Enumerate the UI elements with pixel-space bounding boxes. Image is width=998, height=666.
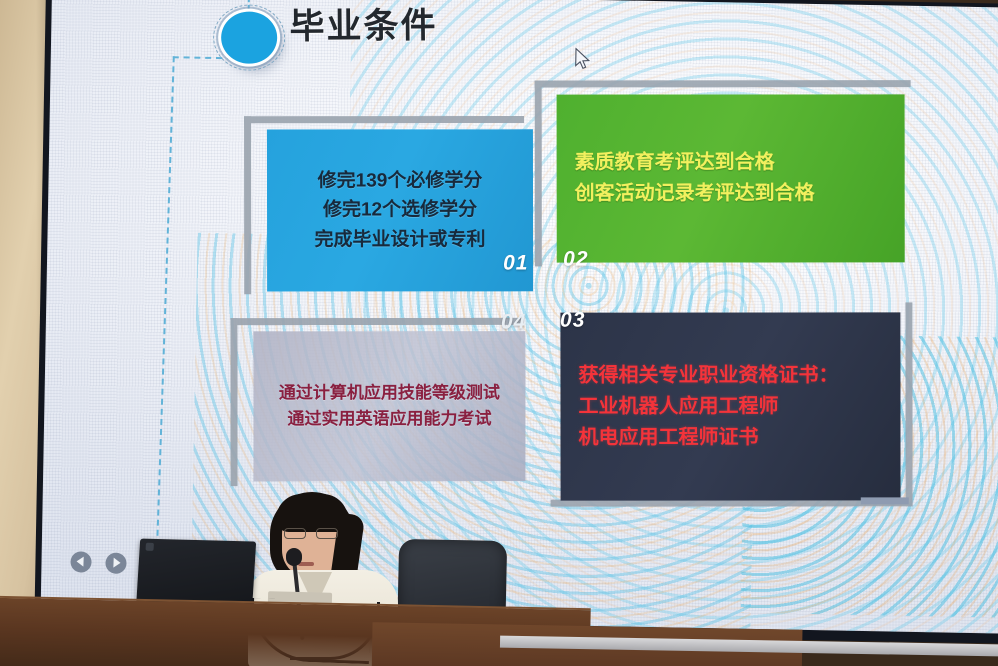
card-number-01: 01: [503, 252, 528, 276]
card-03-line-3: 机电应用工程师证书: [578, 422, 882, 453]
decorative-blue-circle: [221, 11, 278, 64]
card-03-line-1: 获得相关专业职业资格证书：: [578, 360, 882, 391]
card-03-line-2: 工业机器人应用工程师: [578, 391, 882, 422]
previous-slide-button[interactable]: [69, 550, 92, 573]
graduation-condition-card-02: 素质教育考评达到合格 创客活动记录考评达到合格: [557, 94, 905, 262]
card-01-line-3: 完成毕业设计或专利: [285, 225, 515, 255]
graduation-condition-card-03: 获得相关专业职业资格证书： 工业机器人应用工程师 机电应用工程师证书: [560, 312, 900, 500]
card-01-line-1: 修完139个必修学分: [285, 166, 515, 196]
projection-screen: 毕业条件 修完139个必修学分 修完12个选修学分 完成毕业设计或专利 素质教育…: [41, 0, 998, 634]
card-02-line-2: 创客活动记录考评达到合格: [575, 178, 887, 209]
card-number-03: 03: [560, 309, 585, 333]
presentation-slide: 毕业条件 修完139个必修学分 修完12个选修学分 完成毕业设计或专利 素质教育…: [41, 0, 998, 634]
next-slide-button[interactable]: [104, 551, 127, 574]
graduation-condition-card-04: 通过计算机应用技能等级测试 通过实用英语应用能力考试: [253, 331, 525, 481]
prev-icon: [70, 551, 92, 573]
slide-title: 毕业条件: [289, 0, 437, 49]
microphone-head: [286, 548, 302, 566]
card-number-04: 04: [501, 311, 526, 335]
card-number-02: 02: [563, 248, 588, 272]
decorative-dashed-line-vertical: [155, 56, 174, 566]
glasses: [284, 528, 338, 540]
card-01-line-2: 修完12个选修学分: [285, 196, 515, 226]
decorative-bar-right: [861, 497, 909, 504]
projection-room-scene: 毕业条件 修完139个必修学分 修完12个选修学分 完成毕业设计或专利 素质教育…: [0, 0, 998, 666]
card-04-line-2: 通过实用英语应用能力考试: [271, 406, 507, 433]
mouse-cursor: [575, 48, 593, 77]
graduation-condition-card-01: 修完139个必修学分 修完12个选修学分 完成毕业设计或专利: [267, 129, 533, 291]
card-02-line-1: 素质教育考评达到合格: [575, 147, 887, 178]
next-icon: [105, 552, 127, 574]
card-04-line-1: 通过计算机应用技能等级测试: [271, 380, 507, 407]
